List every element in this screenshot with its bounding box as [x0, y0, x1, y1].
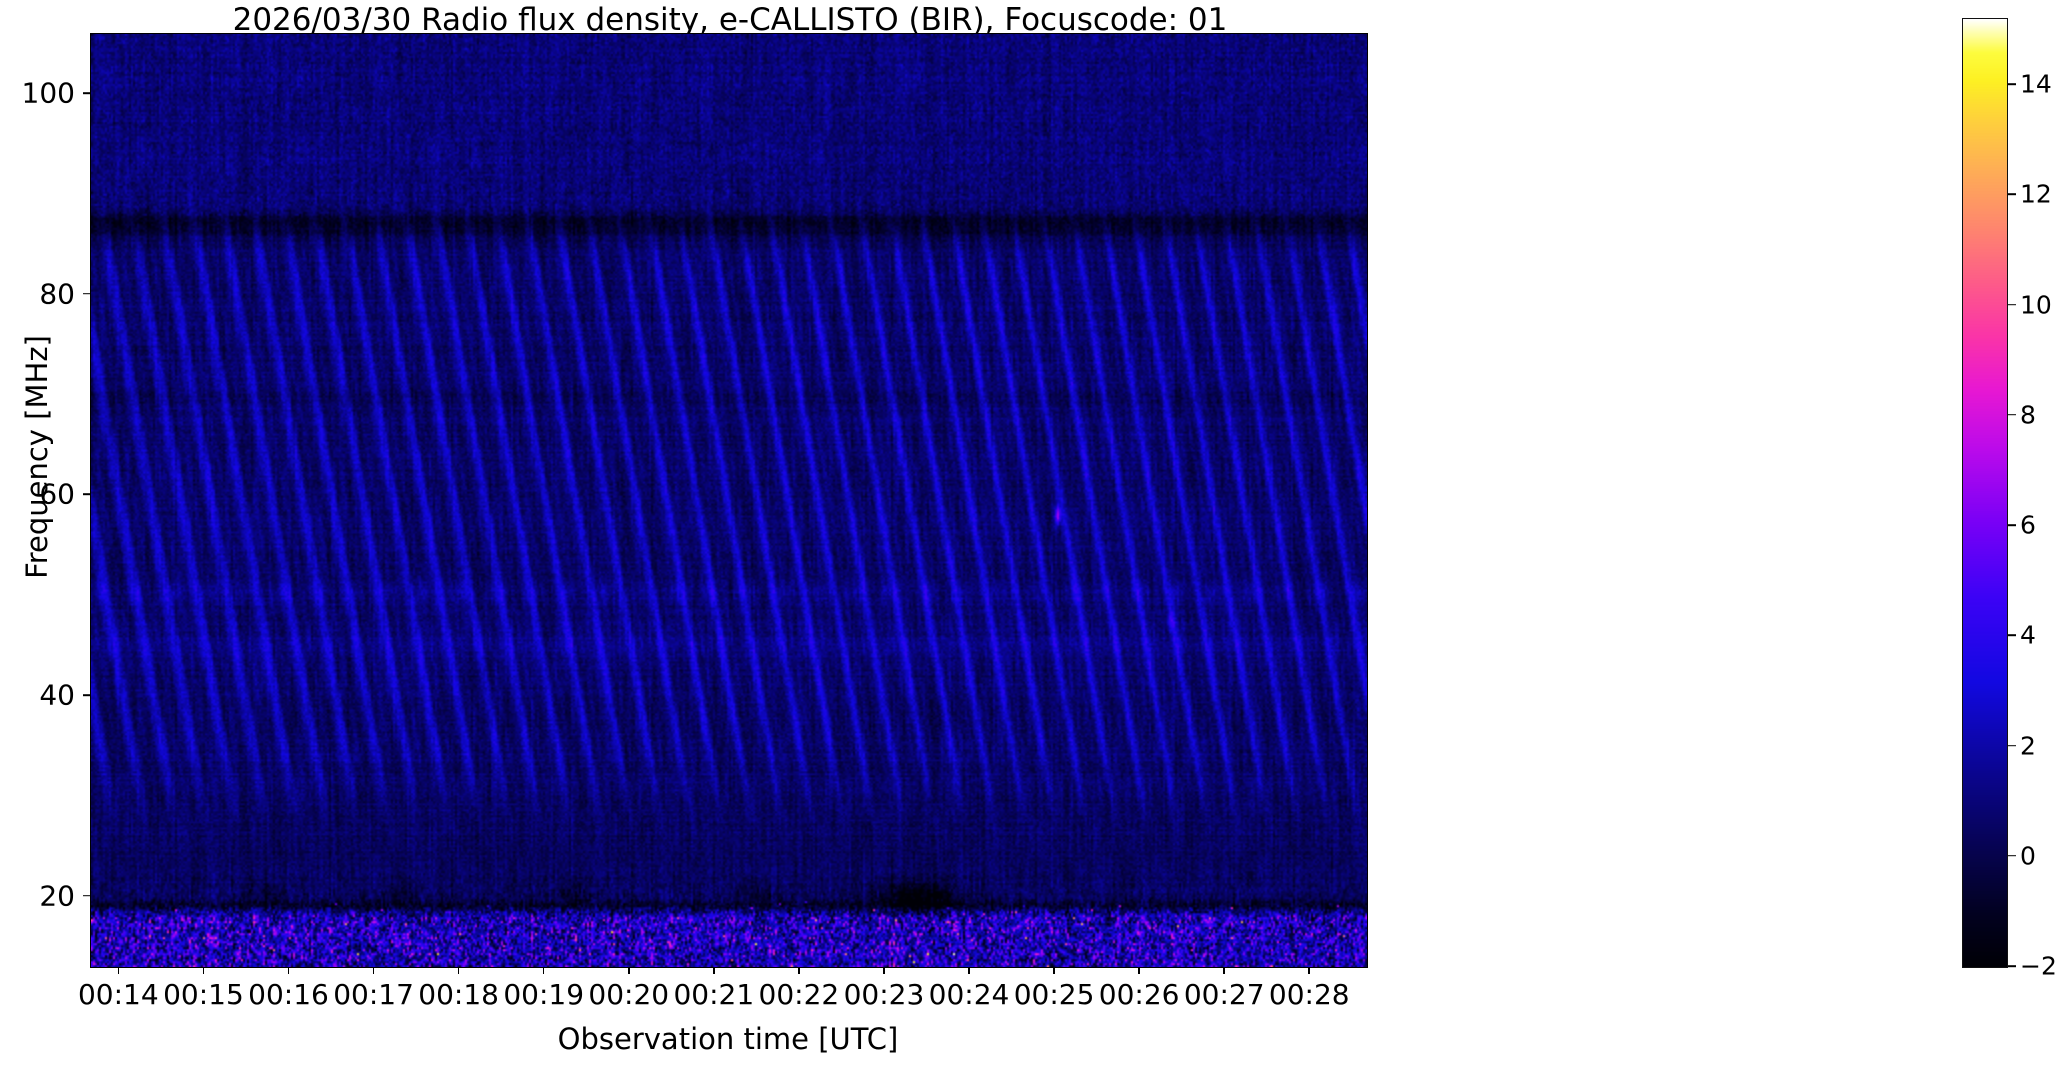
- x-tick-label: 00:23: [844, 978, 925, 1011]
- x-tick-mark: [883, 967, 885, 974]
- x-tick-label: 00:26: [1099, 978, 1180, 1011]
- x-tick-label: 00:17: [333, 978, 414, 1011]
- x-tick-label: 00:22: [759, 978, 840, 1011]
- y-tick-label: 20: [0, 879, 75, 912]
- x-tick-mark: [1138, 967, 1140, 974]
- spectrogram-image: [91, 34, 1367, 967]
- x-tick-mark: [628, 967, 630, 974]
- x-tick-mark: [203, 967, 205, 974]
- colorbar[interactable]: [1962, 18, 2008, 968]
- x-tick-label: 00:24: [929, 978, 1010, 1011]
- colorbar-tick-mark: [2008, 194, 2016, 196]
- x-tick-label: 00:21: [673, 978, 754, 1011]
- colorbar-tick-label: 12: [2020, 180, 2052, 209]
- spectrogram-plot-area[interactable]: [90, 33, 1368, 968]
- x-tick-mark: [458, 967, 460, 974]
- colorbar-tick-label: 6: [2020, 511, 2036, 540]
- x-tick-mark: [798, 967, 800, 974]
- colorbar-tick-label: −2: [2020, 952, 2057, 981]
- x-tick-mark: [1308, 967, 1310, 974]
- y-tick-label: 80: [0, 277, 75, 310]
- y-tick-label: 60: [0, 478, 75, 511]
- colorbar-tick-mark: [2008, 635, 2016, 637]
- y-tick-mark: [83, 694, 90, 696]
- y-tick-mark: [83, 293, 90, 295]
- colorbar-tick-mark: [2008, 524, 2016, 526]
- colorbar-tick-label: 10: [2020, 290, 2052, 319]
- colorbar-tick-mark: [2008, 965, 2016, 967]
- x-tick-mark: [373, 967, 375, 974]
- x-tick-mark: [968, 967, 970, 974]
- colorbar-tick-mark: [2008, 83, 2016, 85]
- x-axis-label: Observation time [UTC]: [90, 1022, 1366, 1056]
- x-tick-label: 00:27: [1184, 978, 1265, 1011]
- x-tick-label: 00:15: [163, 978, 244, 1011]
- x-tick-label: 00:14: [78, 978, 159, 1011]
- x-tick-label: 00:25: [1014, 978, 1095, 1011]
- x-tick-label: 00:28: [1269, 978, 1350, 1011]
- y-tick-label: 100: [0, 77, 75, 110]
- x-tick-label: 00:18: [418, 978, 499, 1011]
- x-tick-mark: [1223, 967, 1225, 974]
- y-tick-mark: [83, 494, 90, 496]
- y-tick-mark: [83, 92, 90, 94]
- colorbar-tick-label: 8: [2020, 400, 2036, 429]
- colorbar-tick-label: 0: [2020, 841, 2036, 870]
- colorbar-tick-mark: [2008, 414, 2016, 416]
- x-tick-label: 00:19: [503, 978, 584, 1011]
- x-tick-label: 00:20: [588, 978, 669, 1011]
- colorbar-tick-label: 4: [2020, 621, 2036, 650]
- x-tick-mark: [1053, 967, 1055, 974]
- x-tick-mark: [543, 967, 545, 974]
- colorbar-tick-mark: [2008, 855, 2016, 857]
- colorbar-tick-mark: [2008, 745, 2016, 747]
- x-tick-mark: [713, 967, 715, 974]
- y-tick-mark: [83, 895, 90, 897]
- y-tick-label: 40: [0, 679, 75, 712]
- colorbar-gradient: [1963, 19, 2007, 967]
- x-tick-mark: [288, 967, 290, 974]
- x-tick-mark: [118, 967, 120, 974]
- colorbar-tick-mark: [2008, 304, 2016, 306]
- x-tick-label: 00:16: [248, 978, 329, 1011]
- spectrogram-figure: 2026/03/30 Radio flux density, e-CALLIST…: [0, 0, 2066, 1067]
- colorbar-tick-label: 2: [2020, 731, 2036, 760]
- colorbar-tick-label: 14: [2020, 70, 2052, 99]
